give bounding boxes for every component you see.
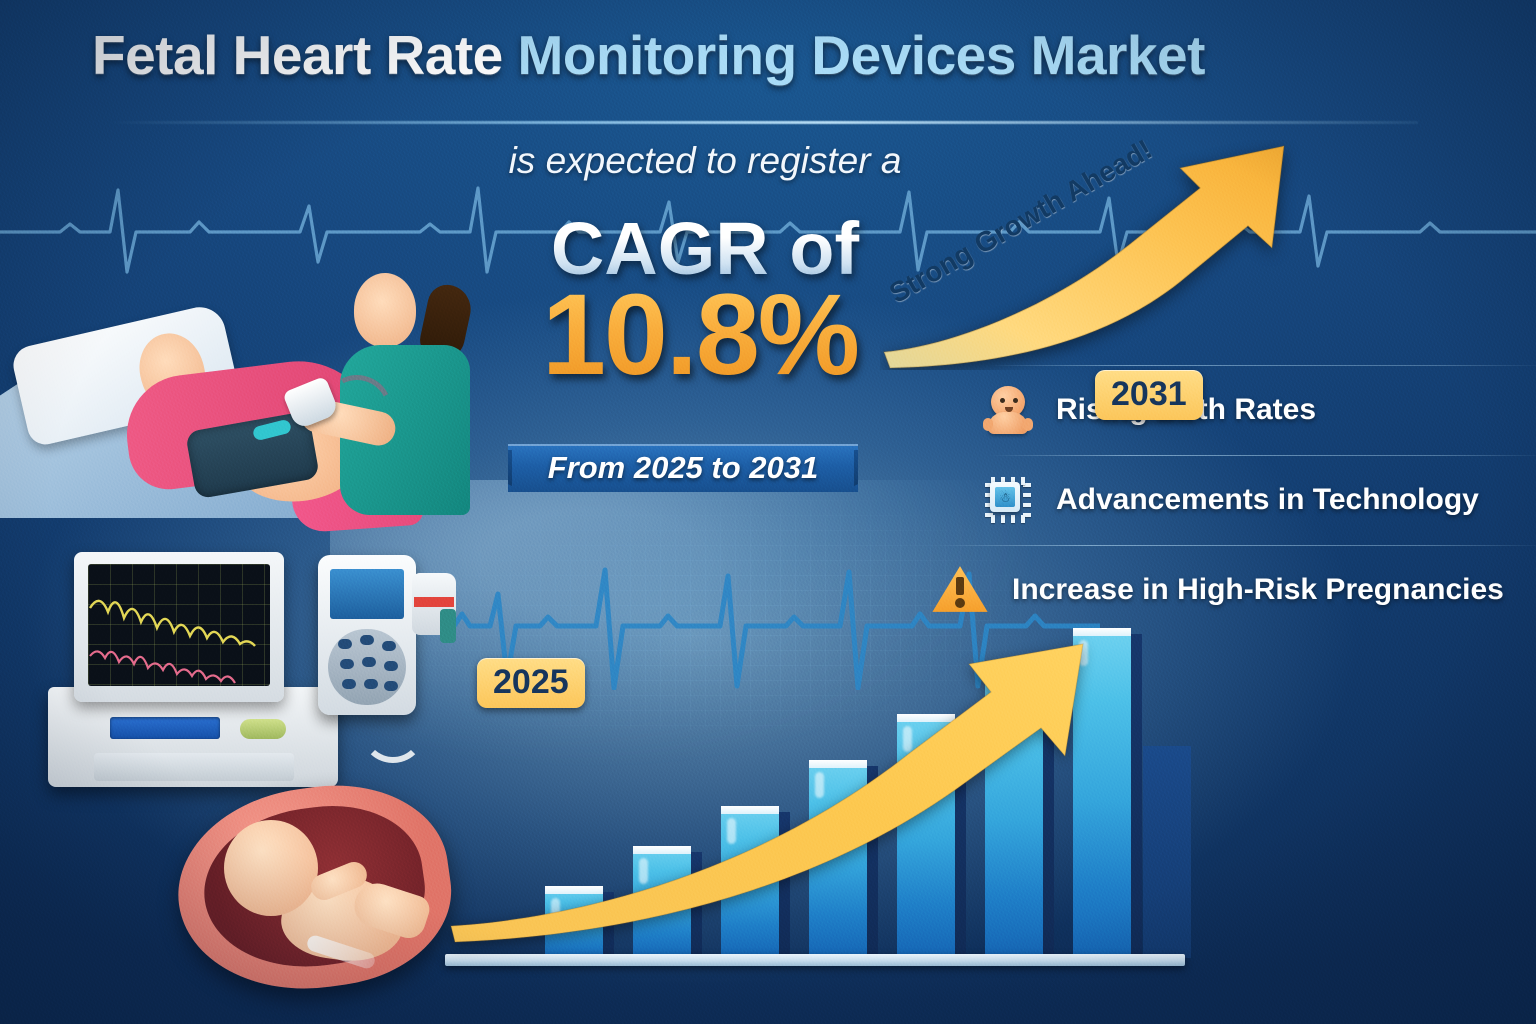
page-title: Fetal Heart Rate Monitoring Devices Mark… (92, 28, 1422, 83)
forecast-period-text: From 2025 to 2031 (548, 450, 819, 486)
forecast-period-banner: From 2025 to 2031 (508, 444, 858, 492)
title-primary: Fetal Heart Rate (92, 24, 518, 86)
monitor-control-knobs[interactable] (240, 719, 286, 739)
baby-icon (982, 384, 1034, 436)
infographic-canvas: Fetal Heart Rate Monitoring Devices Mark… (0, 0, 1536, 1024)
strong-growth-ribbon-arrow: Strong Growth Ahead! (880, 140, 1330, 370)
ctg-fetal-monitor-illustration (48, 552, 348, 787)
driver-label: Advancements in Technology (1056, 483, 1479, 517)
monitor-screen (88, 564, 270, 686)
monitor-bezel (74, 552, 284, 702)
nurse-head (354, 273, 416, 347)
chart-end-year-badge: 2031 (1095, 370, 1203, 420)
doppler-keypad[interactable] (328, 629, 406, 705)
doppler-body (318, 555, 416, 715)
growth-curve-arrow (435, 600, 1195, 960)
kicker-text: is expected to register a (475, 140, 935, 182)
monitor-paper-tray (94, 753, 294, 781)
fetus-head (224, 820, 318, 916)
fetus-in-womb-illustration (178, 788, 458, 1020)
cagr-value: 10.8% (450, 278, 950, 393)
chip-icon: ☃ (982, 474, 1034, 526)
pregnant-patient-with-nurse-illustration (0, 225, 470, 535)
driver-item-rising-birth-rates[interactable]: Rising Birth Rates (970, 365, 1536, 455)
monitor-traces (88, 564, 270, 686)
market-growth-bar-chart: 2025 2031 (455, 600, 1215, 980)
title-secondary: Monitoring Devices Market (518, 24, 1205, 86)
monitor-lcd-strip (110, 717, 220, 739)
title-divider (108, 121, 1418, 124)
driver-item-advancements-in-technology[interactable]: ☃ Advancements in Technology (970, 455, 1536, 545)
chart-start-year-badge: 2025 (477, 658, 585, 708)
market-drivers-list: Rising Birth Rates (970, 365, 1536, 635)
doppler-screen (330, 569, 404, 619)
